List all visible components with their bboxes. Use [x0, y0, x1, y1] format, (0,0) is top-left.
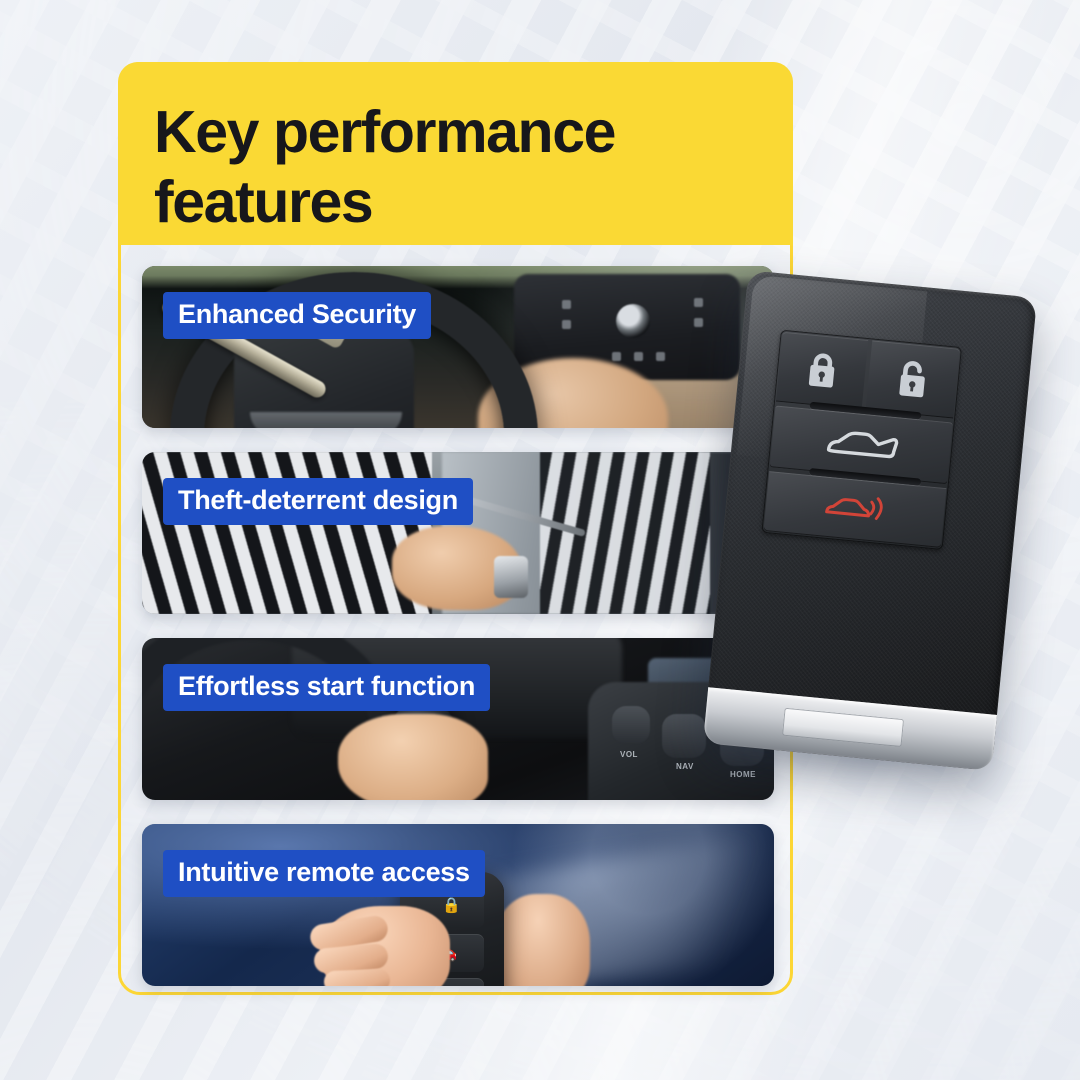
- steering-wheel-with-key-in-ignition-image: [142, 266, 774, 428]
- striped-sleeve-reflection: [540, 452, 710, 614]
- console-label-vol: VOL: [620, 750, 638, 759]
- console-nav-button: [662, 714, 706, 758]
- feature-card-theft-deterrent-design[interactable]: Theft-deterrent design: [142, 452, 774, 614]
- padlock-icon: 🔒: [442, 898, 461, 913]
- dashboard-button: [562, 300, 571, 309]
- dashboard-button: [562, 320, 571, 329]
- dashboard-button: [612, 352, 621, 361]
- dashboard-button: [694, 298, 703, 307]
- feature-badge-1: Theft-deterrent design: [163, 478, 473, 525]
- feature-badge-2: Effortless start function: [163, 664, 490, 711]
- open-padlock-icon: [894, 357, 932, 402]
- striped-shirt: [142, 452, 432, 614]
- product-key-fob: [703, 270, 1037, 771]
- feature-card-intuitive-remote-access[interactable]: 🔒 🚗 🔓 Intuitive remote access: [142, 824, 774, 986]
- push-start-button-image: VOL NAV HOME: [142, 638, 774, 800]
- key-bunch: [494, 556, 528, 598]
- page-title: Key performance features: [154, 98, 793, 237]
- steering-wheel-spoke: [250, 412, 402, 428]
- console-label-home: HOME: [730, 770, 756, 779]
- hand-pressing-button: [338, 714, 488, 800]
- feature-card-list: Enhanced Security Theft-deterrent design: [142, 266, 774, 986]
- dashboard-button: [694, 318, 703, 327]
- key-fob-emergency-key-slot: [782, 708, 904, 747]
- feature-card-effortless-start-function[interactable]: VOL NAV HOME Effortless start function: [142, 638, 774, 800]
- key-fob-button-plate: [761, 330, 962, 551]
- dashboard-button: [656, 352, 665, 361]
- panic-alarm-car-icon: [822, 492, 889, 528]
- dashboard-button: [634, 352, 643, 361]
- key-fob-unlock-button[interactable]: [866, 340, 960, 418]
- car-break-in-attempt-image: [142, 452, 774, 614]
- key-fob-lock-button[interactable]: [776, 332, 868, 410]
- header-banner: Key performance features: [118, 62, 793, 245]
- finger: [324, 969, 391, 986]
- feature-card-enhanced-security[interactable]: Enhanced Security: [142, 266, 774, 428]
- feature-badge-0: Enhanced Security: [163, 292, 431, 339]
- console-label-nav: NAV: [676, 762, 694, 771]
- closed-padlock-icon: [803, 349, 841, 392]
- dashboard-knob: [616, 304, 650, 338]
- feature-badge-3: Intuitive remote access: [163, 850, 485, 897]
- car-trunk-open-icon: [822, 422, 901, 467]
- hand-holding-key-fob-image: 🔒 🚗 🔓: [142, 824, 774, 986]
- console-power-button: [612, 706, 650, 744]
- infographic-canvas: Key performance features: [0, 0, 1080, 1080]
- hand-back: [494, 894, 590, 986]
